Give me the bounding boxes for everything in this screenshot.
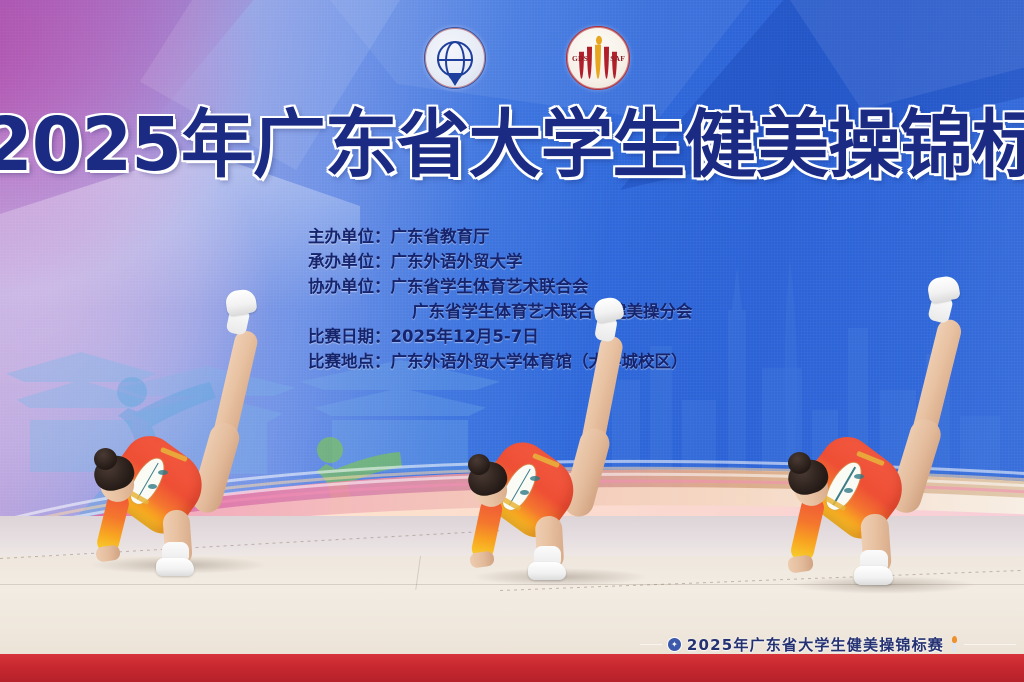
gdufs-globe-logo <box>424 27 486 89</box>
info-label: 比赛地点： <box>308 349 391 374</box>
watermark-text: 2025年广东省大学生健美操锦标赛 <box>687 634 944 655</box>
globe-chevron-icon <box>447 73 463 86</box>
leotard-teal-accent <box>158 470 168 475</box>
screenshot-stage: GDS SAF 2025年广东省大学生健美操锦标赛 主办单位：广东省教育厅 承办… <box>0 0 1024 682</box>
gymnastics-shoe <box>592 296 625 324</box>
gymnastics-shoe <box>926 274 961 303</box>
leotard-teal-accent <box>148 484 157 489</box>
event-title: 2025年广东省大学生健美操锦标赛 <box>0 108 1024 182</box>
emblem-circle-icon: ✦ <box>667 637 682 652</box>
gymnast-left <box>60 270 320 580</box>
watermark-rule <box>964 644 1016 645</box>
info-label: 协办单位： <box>308 274 391 299</box>
logo-text-saf: SAF <box>610 54 625 63</box>
leotard-teal-accent <box>844 488 853 493</box>
gymnast-right <box>758 276 1018 596</box>
info-value: 广东外语外贸大学 <box>391 252 523 271</box>
logo-text-gds: GDS <box>572 54 588 63</box>
info-value: 广东省教育厅 <box>391 227 490 246</box>
hand <box>787 554 814 573</box>
info-row: 主办单位：广东省教育厅 <box>308 224 828 249</box>
hand <box>469 550 495 568</box>
hair-bun <box>468 454 490 475</box>
globe-icon <box>437 41 473 77</box>
floor-border-strip <box>0 654 1024 682</box>
info-row: 承办单位：广东外语外贸大学 <box>308 249 828 274</box>
info-label: 比赛日期： <box>308 324 391 349</box>
gymnastics-shoe <box>528 562 566 580</box>
broadcast-watermark: ✦ 2025年广东省大学生健美操锦标赛 <box>640 632 1016 656</box>
hair-bun <box>94 448 117 470</box>
leotard-teal-accent <box>520 490 529 495</box>
gymnastics-shoe <box>854 566 893 585</box>
torch-icon <box>949 636 959 652</box>
watermark-rule <box>640 644 662 645</box>
gymnastics-shoe <box>224 288 257 316</box>
hair-bun <box>788 452 811 474</box>
gymnast-center <box>440 288 690 588</box>
leotard-teal-accent <box>854 474 864 479</box>
gdssaf-tulip-logo: GDS SAF <box>566 26 630 90</box>
leotard-teal-accent <box>530 476 540 481</box>
info-label: 主办单位： <box>308 224 391 249</box>
info-label: 承办单位： <box>308 249 391 274</box>
gymnastics-shoe <box>156 558 194 576</box>
